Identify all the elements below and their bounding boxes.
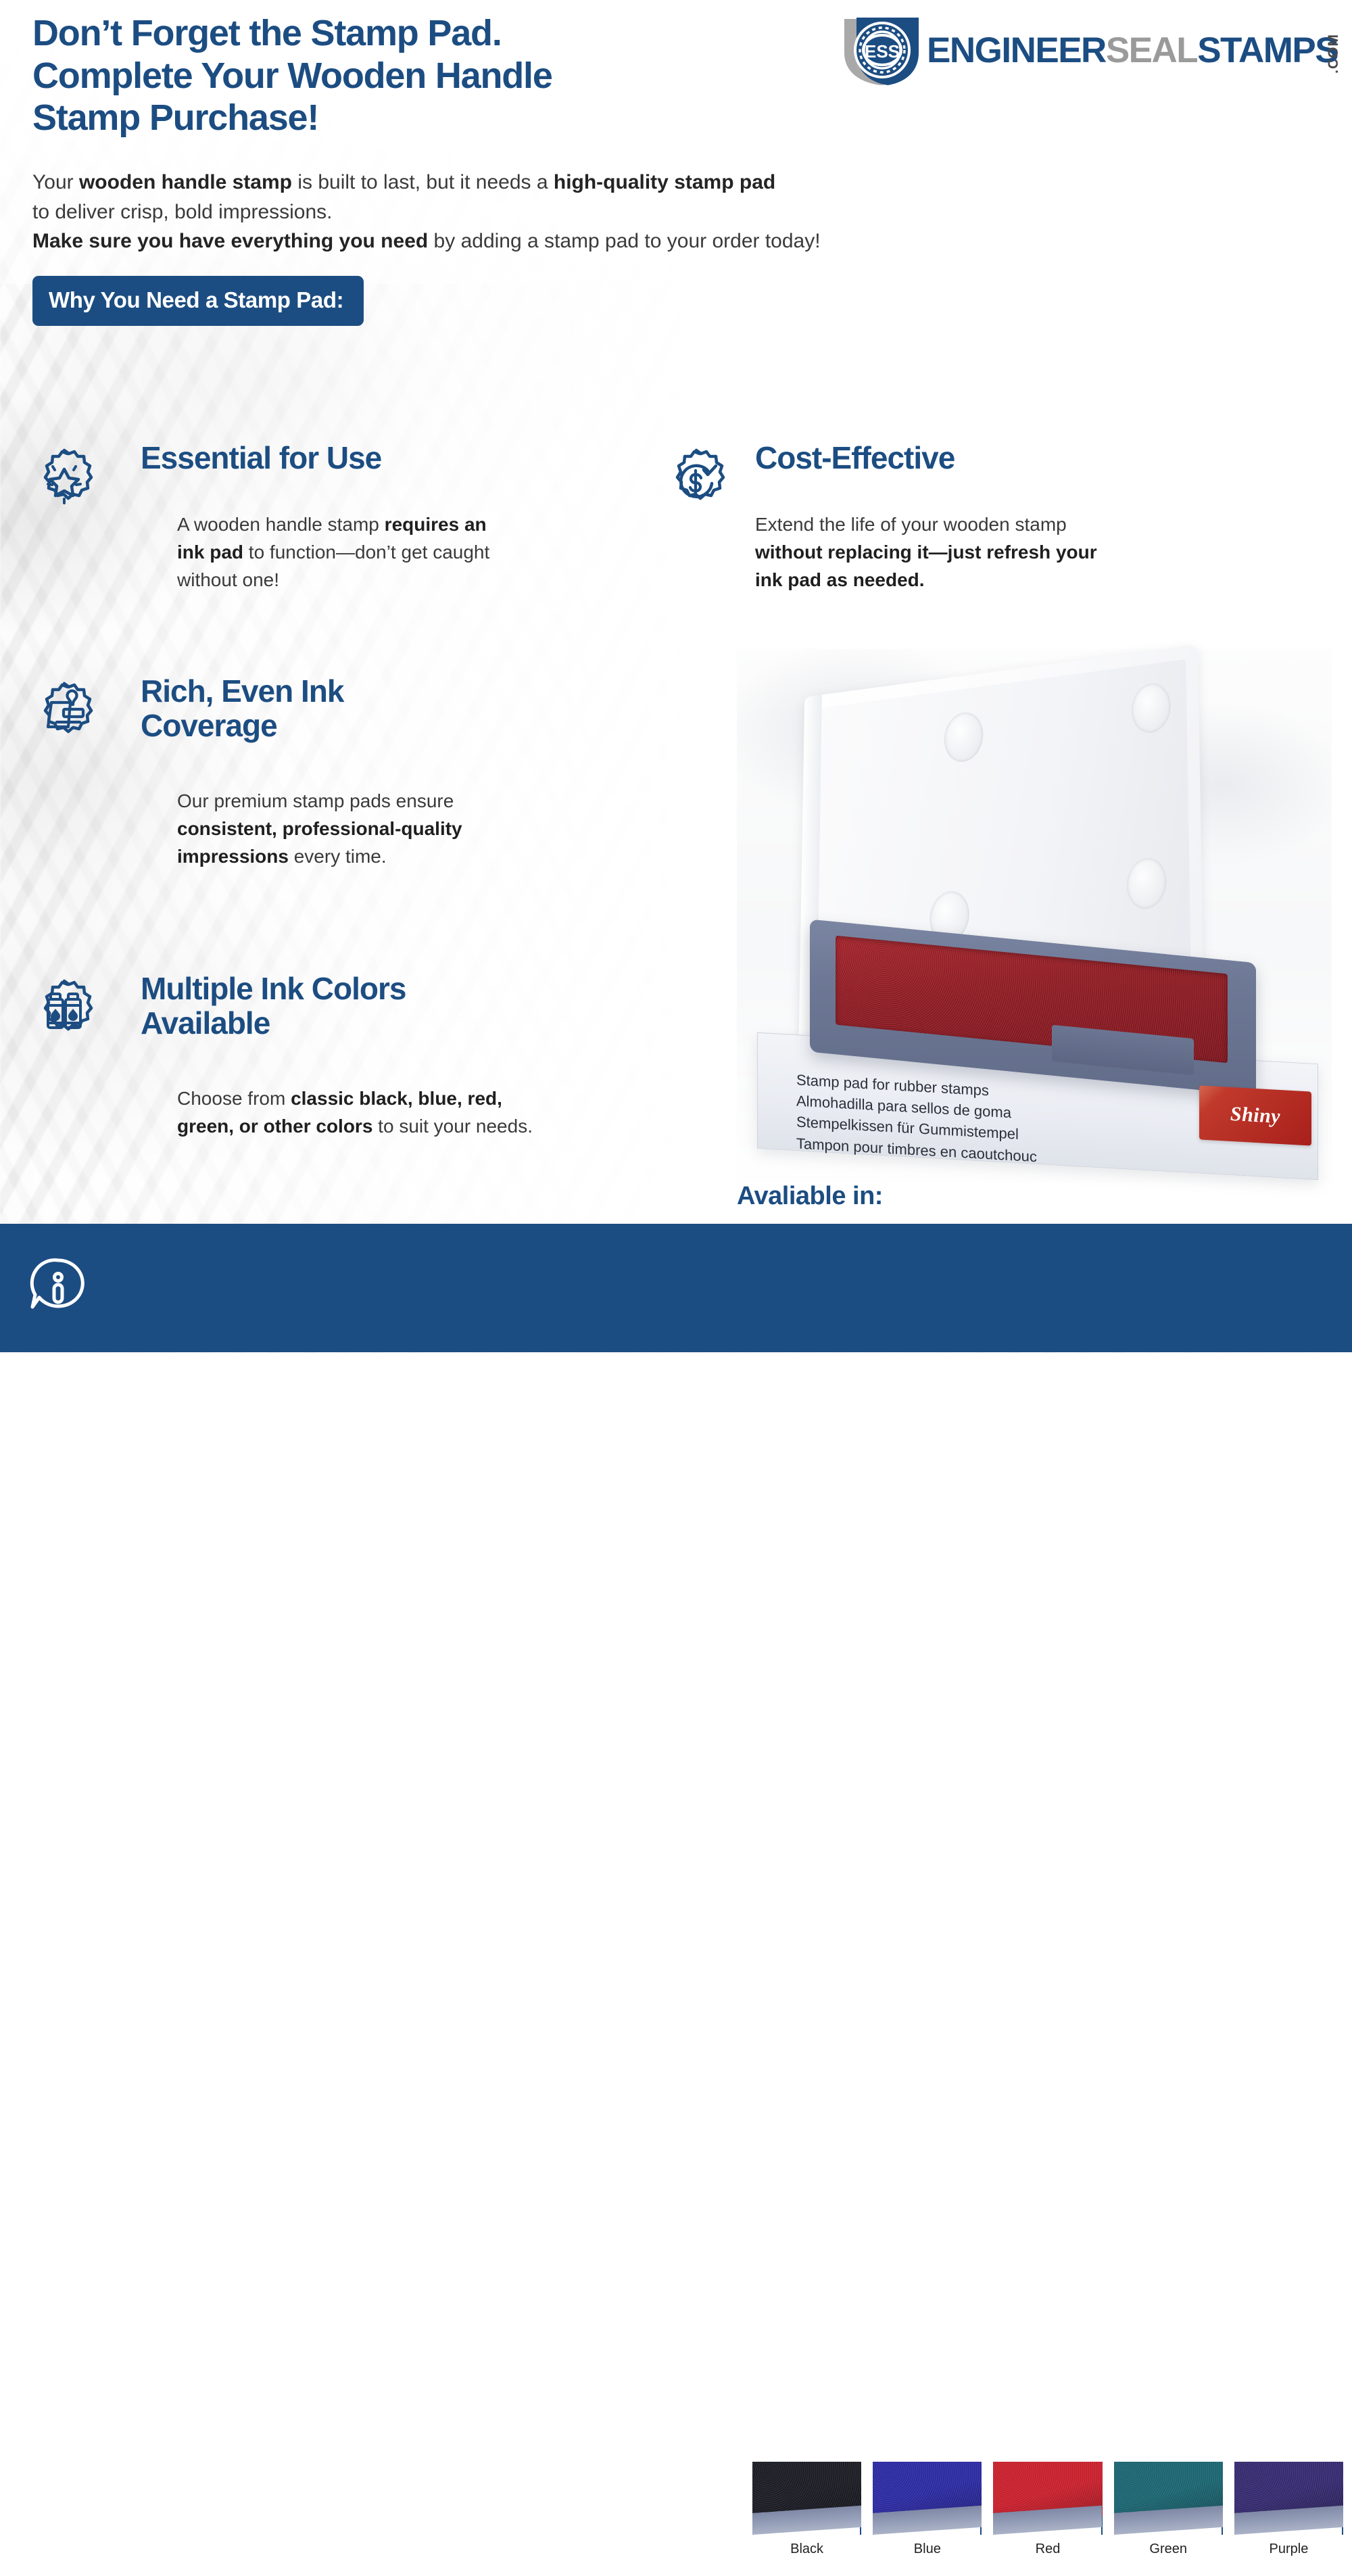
intro-emphasis-high-quality: high-quality stamp pad <box>554 171 775 193</box>
swatch-image <box>873 2462 982 2535</box>
footer-line-2: Add a stamp pad to your cart now and ens… <box>108 2496 703 2525</box>
feature-title: Essential for Use <box>141 441 381 475</box>
feature-body: Our premium stamp pads ensure consistent… <box>177 788 637 871</box>
product-photo: C-S Stamp pad for rubber stamps Almohadi… <box>737 649 1332 1190</box>
svg-text:ESS: ESS <box>865 41 900 62</box>
logo-word-engineer: ENGINEER <box>927 30 1106 70</box>
brand-logo[interactable]: ESS ENGINEERSEALSTAMPS .COM <box>840 14 1341 88</box>
intro-emphasis-wooden-handle-stamp: wooden handle stamp <box>79 171 292 193</box>
lid-dimple <box>1127 856 1167 911</box>
headline-line-2: Complete Your Wooden Handle <box>32 55 715 97</box>
swatch-label: Black <box>752 2535 861 2563</box>
logo-word-seal: SEAL <box>1106 30 1197 70</box>
intro-emphasis-make-sure: Make sure you have everything you need <box>32 230 428 252</box>
intro-line-1: Your wooden handle stamp is built to las… <box>32 168 992 197</box>
feature-body: A wooden handle stamp requires an ink pa… <box>177 511 650 594</box>
feature-body: Choose from classic black, blue, red, gr… <box>177 1085 664 1141</box>
headline-line-1: Don’t Forget the Stamp Pad. <box>32 12 715 55</box>
lid-dimple <box>944 710 984 764</box>
swatch-image <box>752 2462 861 2535</box>
feature-title: Cost-Effective <box>755 441 955 475</box>
infographic-page: Don’t Forget the Stamp Pad. Complete You… <box>0 0 1352 1352</box>
intro-line-2: to deliver crisp, bold impressions. <box>32 197 992 227</box>
available-in-label: Avaliable in: <box>737 1182 883 1211</box>
ess-shield-icon: ESS <box>840 15 921 85</box>
intro-paragraph: Your wooden handle stamp is built to las… <box>32 168 992 256</box>
feature-title: Rich, Even Ink Coverage <box>141 674 546 742</box>
header: Don’t Forget the Stamp Pad. Complete You… <box>0 0 1352 162</box>
stamp-badge-icon <box>27 679 101 754</box>
swatch-image <box>1234 2462 1343 2535</box>
swatch-blue[interactable]: Blue <box>871 2460 984 2565</box>
star-badge-icon <box>27 446 101 521</box>
color-swatch-row: Black Blue Red <box>750 2448 1352 2576</box>
swatch-red[interactable]: Red <box>991 2460 1104 2565</box>
footer-cta-bar: Make the most of your stamp! Add a stamp… <box>0 1224 1352 1352</box>
page-title: Don’t Forget the Stamp Pad. Complete You… <box>32 12 715 139</box>
swatch-black[interactable]: Black <box>750 2460 863 2565</box>
footer-line-1: Make the most of your stamp! <box>108 2466 703 2496</box>
swatch-purple[interactable]: Purple <box>1232 2460 1345 2565</box>
lid-dimple <box>1132 681 1171 735</box>
footer-line-3: ready to stamp the moment your order arr… <box>108 2525 703 2554</box>
headline-line-3: Stamp Purchase! <box>32 97 715 139</box>
logo-wordmark: ENGINEERSEALSTAMPS <box>927 30 1338 71</box>
intro-line-3: Make sure you have everything you need b… <box>32 226 992 256</box>
swatch-image <box>1114 2462 1223 2535</box>
feature-body: Extend the life of your wooden stamp wit… <box>755 511 1323 594</box>
shiny-brand-logo: Shiny <box>1199 1085 1311 1145</box>
dollar-check-badge-icon <box>659 446 733 521</box>
logo-tld: .COM <box>1326 34 1342 74</box>
why-banner: Why You Need a Stamp Pad: <box>32 276 364 326</box>
info-bubble-icon <box>27 1255 89 1317</box>
swatch-image <box>993 2462 1102 2535</box>
feature-title: Multiple Ink Colors Available <box>141 972 587 1040</box>
swatch-label: Green <box>1114 2535 1223 2563</box>
ink-bottles-badge-icon <box>27 977 101 1051</box>
footer-cta-text: Make the most of your stamp! Add a stamp… <box>108 2466 703 2554</box>
swatch-label: Red <box>993 2535 1102 2563</box>
swatch-green[interactable]: Green <box>1112 2460 1225 2565</box>
swatch-label: Blue <box>873 2535 982 2563</box>
swatch-label: Purple <box>1234 2535 1343 2563</box>
logo-word-stamps: STAMPS <box>1197 30 1338 70</box>
